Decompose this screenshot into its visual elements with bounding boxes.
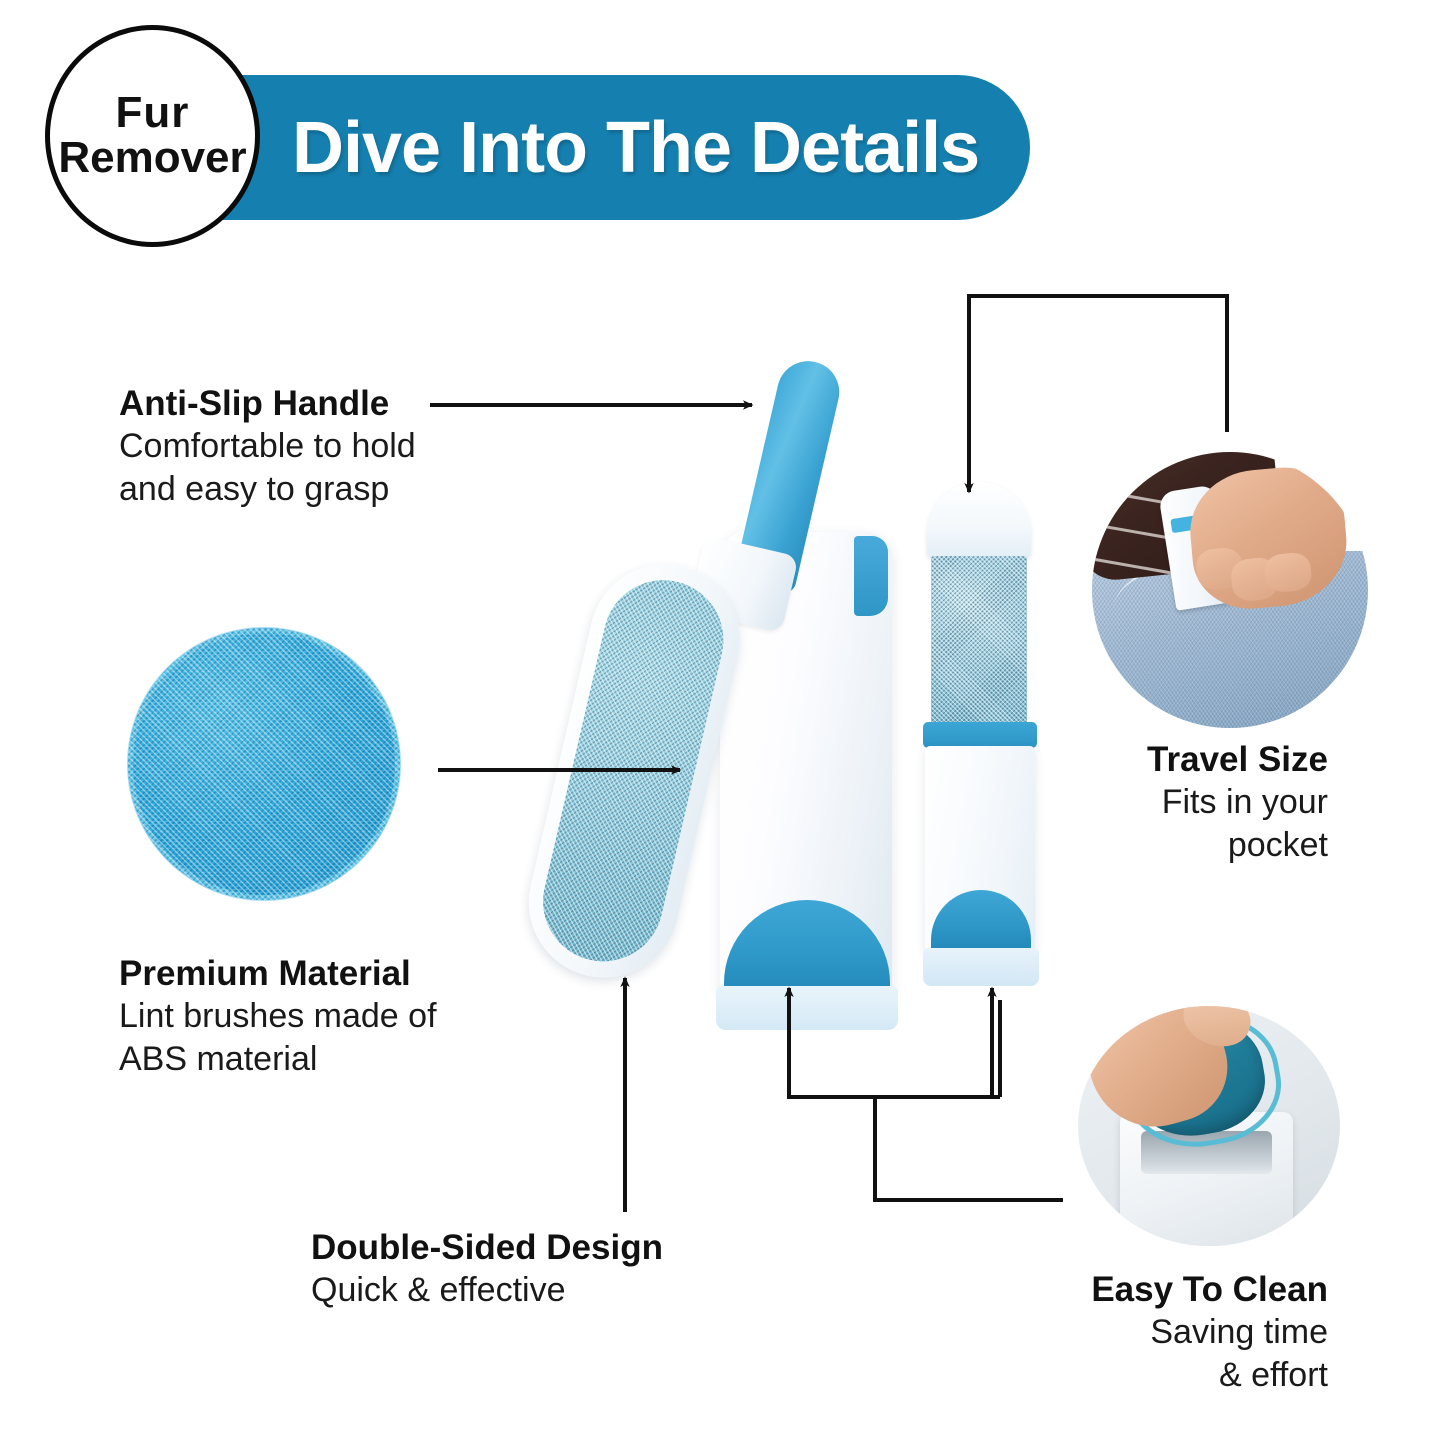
feature-premium-material: Premium Material Lint brushes made of AB… xyxy=(119,952,437,1081)
feature-desc-line2: and easy to grasp xyxy=(119,468,416,511)
connector-easy-clean-stem xyxy=(875,1097,1063,1200)
feature-title: Anti-Slip Handle xyxy=(119,382,416,425)
brush-large-pad-frame xyxy=(514,549,755,992)
brush-travel-pad-weave xyxy=(931,556,1027,726)
lint-fabric-texture-swatch xyxy=(128,628,400,900)
feature-desc-line2: ABS material xyxy=(119,1038,437,1081)
feature-title: Double-Sided Design xyxy=(311,1226,663,1269)
brush-large-base-foot xyxy=(716,986,898,1030)
brand-logo-line2: Remover xyxy=(58,136,246,181)
fur-remover-brush-travel xyxy=(905,482,1055,1030)
brush-large-body-clip xyxy=(854,536,888,616)
brand-logo: Fur Remover xyxy=(45,25,260,247)
brush-large-lint-pad xyxy=(531,568,735,973)
header-banner: Dive Into The Details xyxy=(172,75,1030,220)
feature-desc-line1: Quick & effective xyxy=(311,1269,663,1312)
fabric-weave-pattern xyxy=(128,628,400,900)
feature-desc-line2: pocket xyxy=(1080,824,1328,867)
cleaning-photo xyxy=(1078,1006,1340,1246)
fur-remover-brush-large xyxy=(592,360,922,1030)
feature-desc-line1: Fits in your xyxy=(1080,781,1328,824)
brush-travel-base-foot xyxy=(923,948,1039,986)
brand-logo-line1: Fur xyxy=(116,91,190,136)
feature-desc-line1: Comfortable to hold xyxy=(119,425,416,468)
brush-large-pad-weave xyxy=(531,568,735,973)
feature-anti-slip-handle: Anti-Slip Handle Comfortable to hold and… xyxy=(119,382,416,511)
feature-travel-size: Travel Size Fits in your pocket xyxy=(1080,738,1328,867)
finger xyxy=(1264,551,1314,594)
feature-title: Easy To Clean xyxy=(1052,1268,1328,1311)
infographic-canvas: Dive Into The Details Fur Remover xyxy=(0,0,1445,1445)
pocket-photo xyxy=(1092,452,1368,728)
feature-desc-line2: & effort xyxy=(1052,1354,1328,1397)
feature-easy-to-clean: Easy To Clean Saving time & effort xyxy=(1052,1268,1328,1397)
brush-travel-cap xyxy=(927,482,1031,558)
page-title: Dive Into The Details xyxy=(292,107,979,189)
brush-travel-collar xyxy=(923,722,1037,748)
feature-desc-line1: Lint brushes made of xyxy=(119,995,437,1038)
feature-double-sided-design: Double-Sided Design Quick & effective xyxy=(311,1226,663,1312)
feature-title: Premium Material xyxy=(119,952,437,995)
feature-desc-line1: Saving time xyxy=(1052,1311,1328,1354)
brush-travel-lint-pad xyxy=(931,556,1027,726)
connector-easy-clean-bar-left xyxy=(789,1095,1000,1097)
feature-title: Travel Size xyxy=(1080,738,1328,781)
